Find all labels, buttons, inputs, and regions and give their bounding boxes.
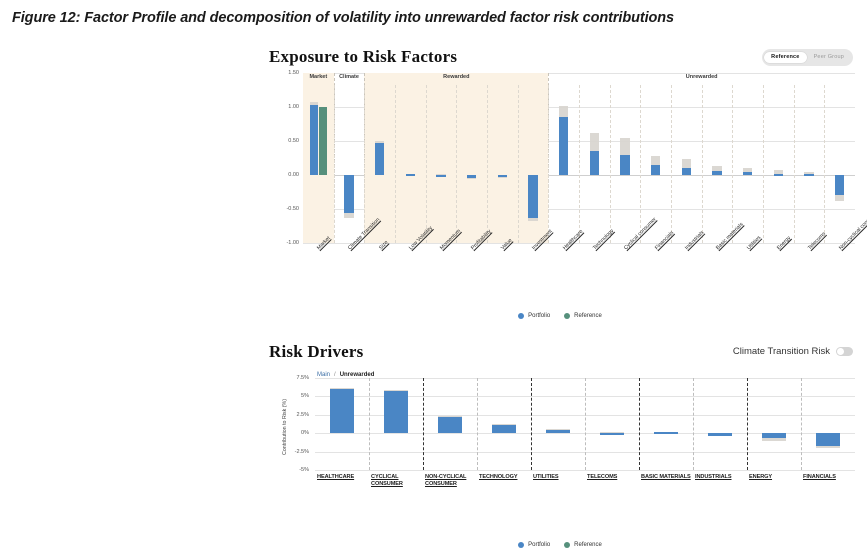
legend-item: Reference xyxy=(564,542,602,548)
group-separator xyxy=(801,378,802,470)
legend-label: Portfolio xyxy=(528,542,550,548)
y-tick-label: -0.50 xyxy=(286,206,299,212)
category-separator xyxy=(763,85,764,243)
portfolio-bar xyxy=(375,143,384,175)
group-separator xyxy=(639,378,640,470)
risk-drivers-y-axis-title: Contribution to Risk (%) xyxy=(282,381,288,473)
group-separator xyxy=(747,378,748,470)
legend-item: Portfolio xyxy=(518,542,550,548)
category-separator xyxy=(824,85,825,243)
portfolio-bar xyxy=(384,391,408,433)
legend-swatch xyxy=(518,542,524,548)
category-separator xyxy=(426,85,427,243)
band-label-climate: Climate xyxy=(339,74,359,80)
risk-drivers-plot-area xyxy=(315,378,855,470)
group-separator xyxy=(531,378,532,470)
group-separator xyxy=(693,378,694,470)
x-tick-label: UTILITIES xyxy=(533,474,583,481)
portfolio-bar xyxy=(344,175,353,213)
legend-swatch xyxy=(564,542,570,548)
category-separator xyxy=(456,85,457,243)
category-separator xyxy=(334,85,335,243)
category-separator xyxy=(548,85,549,243)
portfolio-bar xyxy=(816,433,840,446)
segment-peer-group[interactable]: Peer Group xyxy=(807,52,851,64)
portfolio-bar xyxy=(804,174,813,176)
y-tick-label: 0.00 xyxy=(288,172,299,178)
category-separator xyxy=(487,85,488,243)
x-tick-label: HEALTHCARE xyxy=(317,474,367,481)
group-separator xyxy=(369,378,370,470)
gridline xyxy=(315,470,855,471)
legend-label: Portfolio xyxy=(528,313,550,319)
portfolio-bar xyxy=(546,430,570,434)
portfolio-bar xyxy=(438,417,462,433)
y-tick-label: 1.50 xyxy=(288,70,299,76)
portfolio-bar xyxy=(498,175,507,177)
category-separator xyxy=(702,85,703,243)
exposure-to-risk-factors-panel: Exposure to Risk Factors Reference Peer … xyxy=(265,45,855,325)
portfolio-bar xyxy=(436,175,445,177)
x-tick-label: TECHNOLOGY xyxy=(479,474,529,481)
legend-label: Reference xyxy=(574,313,602,319)
y-tick-label: -2.5% xyxy=(295,449,309,455)
y-tick-label: 1.00 xyxy=(288,104,299,110)
toggle-knob xyxy=(837,348,844,355)
risk-drivers-panel: Risk Drivers Climate Transition Risk Mai… xyxy=(265,340,855,536)
portfolio-bar xyxy=(330,389,354,433)
band-label-rewarded: Rewarded xyxy=(443,74,469,80)
portfolio-bar xyxy=(467,175,476,178)
group-separator xyxy=(585,378,586,470)
portfolio-bar xyxy=(682,168,691,175)
x-tick-label: CYCLICAL CONSUMER xyxy=(371,474,421,488)
risk-drivers-chart: Contribution to Risk (%) 7.5%5%2.5%0%-2.… xyxy=(265,378,855,488)
portfolio-bar xyxy=(774,174,783,176)
panel-title-exposure: Exposure to Risk Factors xyxy=(269,47,457,67)
portfolio-bar xyxy=(559,117,568,175)
exposure-plot-area: MarketClimateRewardedUnrewarded xyxy=(303,73,855,243)
exposure-x-axis-labels: MarketClimate TransitionSizeLow Volatili… xyxy=(303,247,855,307)
category-separator xyxy=(395,85,396,243)
portfolio-bar xyxy=(743,172,752,175)
category-separator xyxy=(640,85,641,243)
x-tick-label: TELECOMS xyxy=(587,474,637,481)
category-separator xyxy=(794,85,795,243)
exposure-legend: PortfolioReference xyxy=(265,313,855,319)
group-separator xyxy=(477,378,478,470)
y-tick-label: 2.5% xyxy=(296,412,309,418)
panel-title-risk-drivers: Risk Drivers xyxy=(269,342,363,362)
category-separator xyxy=(610,85,611,243)
portfolio-bar xyxy=(406,174,415,176)
portfolio-bar xyxy=(310,105,318,175)
x-tick-label: NON-CYCLICAL CONSUMER xyxy=(425,474,475,488)
climate-transition-risk-toggle-group[interactable]: Climate Transition Risk xyxy=(733,346,853,357)
y-tick-label: 5% xyxy=(301,393,309,399)
portfolio-bar xyxy=(712,171,721,175)
portfolio-bar xyxy=(651,165,660,175)
y-tick-label: 7.5% xyxy=(296,375,309,381)
category-separator xyxy=(518,85,519,243)
category-separator xyxy=(364,85,365,243)
portfolio-bar xyxy=(708,433,732,436)
risk-drivers-y-axis: Contribution to Risk (%) 7.5%5%2.5%0%-2.… xyxy=(265,378,313,470)
portfolio-bar xyxy=(492,425,516,433)
x-tick-label: INDUSTRIALS xyxy=(695,474,745,481)
legend-item: Portfolio xyxy=(518,313,550,319)
band-label-market: Market xyxy=(309,74,327,80)
climate-transition-risk-switch[interactable] xyxy=(836,347,853,356)
reference-bar xyxy=(319,107,327,175)
category-separator xyxy=(732,85,733,243)
figure-caption: Figure 12: Factor Profile and decomposit… xyxy=(12,10,674,26)
portfolio-bar xyxy=(600,433,624,435)
category-separator xyxy=(671,85,672,243)
portfolio-bar xyxy=(620,155,629,175)
portfolio-bar xyxy=(762,433,786,437)
y-tick-label: -1.00 xyxy=(286,240,299,246)
portfolio-bar xyxy=(654,432,678,434)
y-tick-label: 0.50 xyxy=(288,138,299,144)
legend-item: Reference xyxy=(564,313,602,319)
risk-drivers-legend: PortfolioReference xyxy=(265,542,855,548)
reference-peer-group-segmented-control[interactable]: Reference Peer Group xyxy=(762,49,853,66)
risk-drivers-x-axis-labels: HEALTHCARECYCLICAL CONSUMERNON-CYCLICAL … xyxy=(315,474,855,504)
segment-reference[interactable]: Reference xyxy=(764,52,806,64)
exposure-y-axis: 1.501.000.500.00-0.50-1.00 xyxy=(265,73,301,243)
x-tick-label: BASIC MATERIALS xyxy=(641,474,691,481)
x-tick-label: ENERGY xyxy=(749,474,799,481)
group-separator xyxy=(423,378,424,470)
exposure-chart: 1.501.000.500.00-0.50-1.00 MarketClimate… xyxy=(265,73,855,273)
x-tick-label: FINANCIALS xyxy=(803,474,853,481)
climate-transition-risk-label: Climate Transition Risk xyxy=(733,346,830,357)
band-label-unrewarded: Unrewarded xyxy=(686,74,718,80)
category-separator xyxy=(579,85,580,243)
y-tick-label: 0% xyxy=(301,430,309,436)
portfolio-bar xyxy=(835,175,844,195)
legend-label: Reference xyxy=(574,542,602,548)
legend-swatch xyxy=(518,313,524,319)
legend-swatch xyxy=(564,313,570,319)
portfolio-bar xyxy=(590,151,599,175)
portfolio-bar xyxy=(528,175,537,218)
y-tick-label: -5% xyxy=(299,467,309,473)
